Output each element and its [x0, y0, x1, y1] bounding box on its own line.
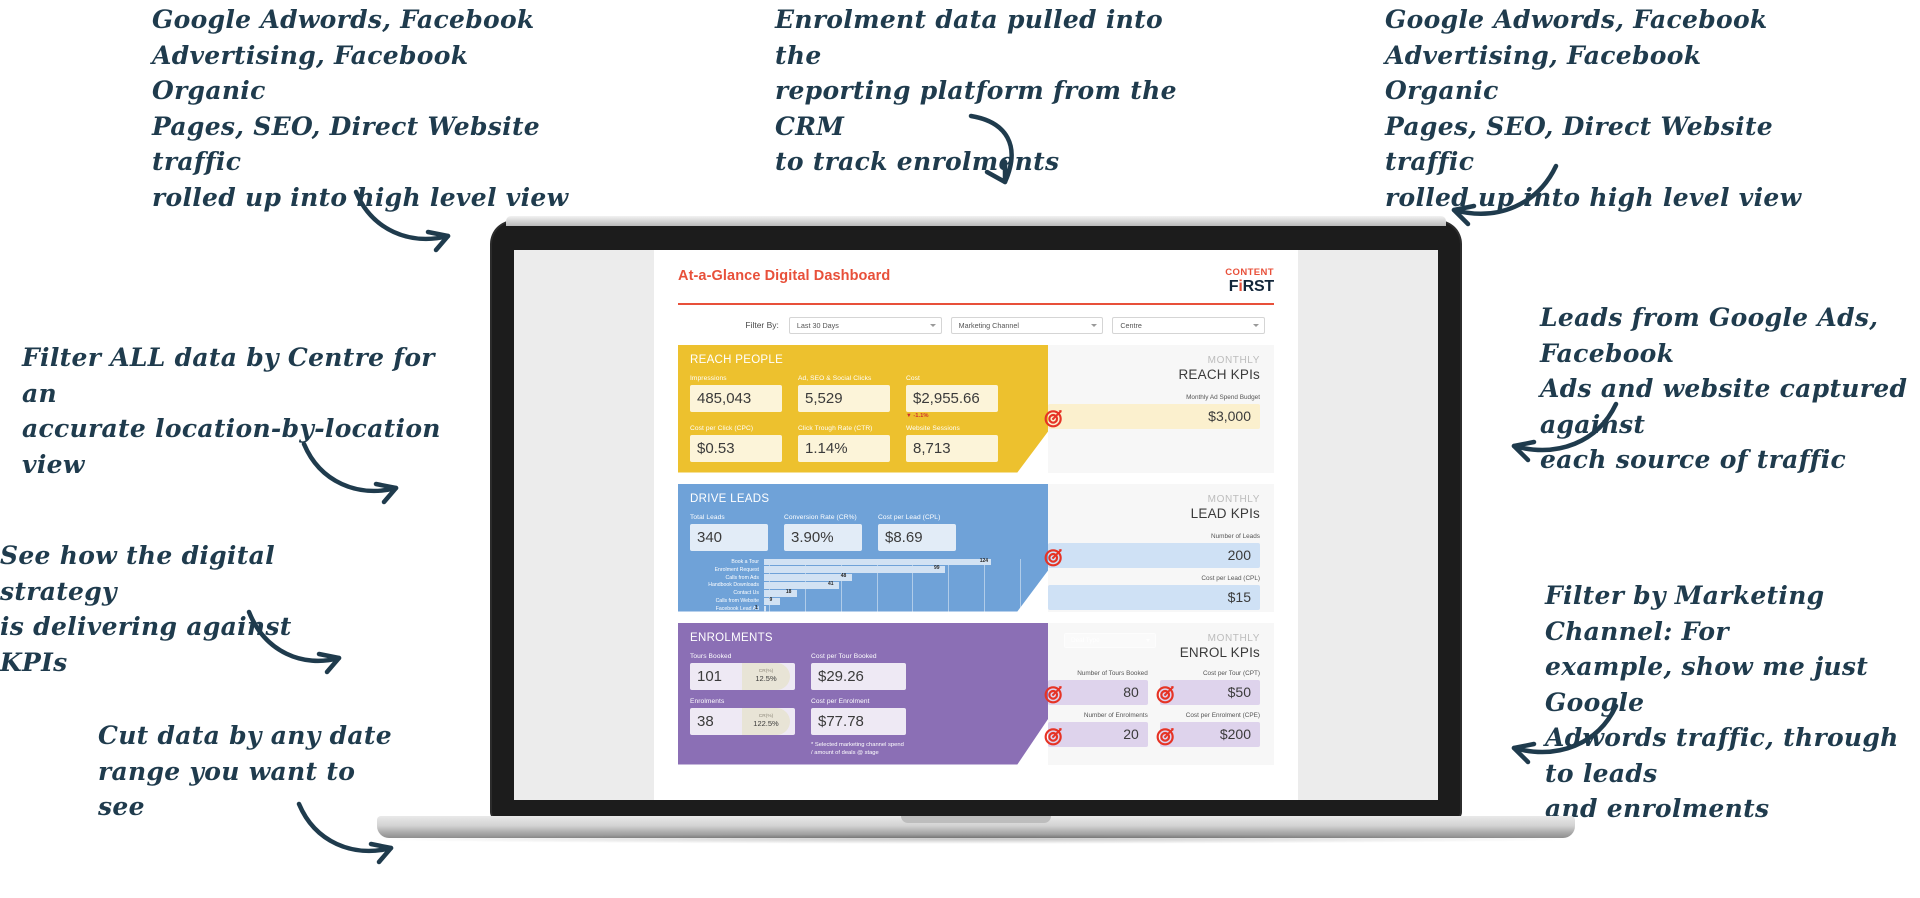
- metric-conversion-rate: Conversion Rate (CR%) 3.90%: [784, 514, 862, 551]
- tours-cr-badge: CR(%) 12.5%: [742, 663, 790, 690]
- laptop-lid: At-a-Glance Digital Dashboard CONTENT Fi…: [492, 222, 1460, 818]
- filter-bar: Filter By: Last 30 Days Marketing Channe…: [678, 317, 1274, 334]
- metric-value: $0.53: [690, 435, 782, 462]
- chart-bar: [764, 590, 797, 597]
- metric-cpc: Cost per Click (CPC) $0.53: [690, 425, 782, 462]
- chevron-down-icon: [1091, 324, 1097, 327]
- metric-caption: Total Leads: [690, 514, 768, 521]
- chart-bar-value: 1: [755, 605, 758, 611]
- chart-plot: 124: [764, 559, 1020, 566]
- metric-tours-booked: Tours Booked 101 CR(%) 12.5%: [690, 653, 795, 690]
- laptop-lid-gloss: [506, 216, 1446, 226]
- metric-ctr: Click Trough Rate (CTR) 1.14%: [798, 425, 890, 462]
- reach-kpi-field-0: Monthly Ad Spend Budget $3,000: [1048, 394, 1260, 429]
- chart-category-label: Facebook Lead Ad: [690, 606, 764, 611]
- arrow-crm-icon: [965, 112, 1045, 197]
- note-sources-left: Google Adwords, Facebook Advertising, Fa…: [152, 2, 572, 215]
- metric-impressions: Impressions 485,043: [690, 375, 782, 419]
- logo-line-1: CONTENT: [1225, 268, 1274, 278]
- metric-cost-per-tour-booked: Cost per Tour Booked $29.26: [811, 653, 906, 690]
- leads-kpi-value-1[interactable]: $15: [1048, 585, 1260, 610]
- leads-by-source-chart: Book a Tour124Enrolment Request99Calls f…: [690, 559, 1020, 612]
- metric-caption: Cost per Tour Booked: [811, 653, 906, 660]
- enrol-kpi-field-3: Cost per Enrolment (CPE) $200: [1160, 712, 1260, 747]
- chart-row: Book a Tour124: [690, 559, 1020, 566]
- chart-plot: 41: [764, 582, 1020, 589]
- leads-kpi-field-0: Number of Leads 200: [1048, 533, 1260, 568]
- chevron-down-icon: [1146, 639, 1150, 642]
- chart-category-label: Calls from Ads: [690, 575, 764, 581]
- metric-cost: Cost $2,955.66 ▼ -1.1%: [906, 375, 998, 419]
- chart-row: Contact Us18: [690, 590, 1020, 597]
- enrol-kpi-caption-0: Number of Tours Booked: [1048, 670, 1148, 677]
- chart-bar-value: 99: [934, 565, 940, 571]
- chart-plot: 99: [764, 566, 1020, 573]
- enrol-kpi-field-2: Number of Enrolments 20: [1048, 712, 1148, 747]
- target-icon: [1156, 684, 1176, 704]
- reach-kpi-sub: MONTHLY: [1048, 355, 1260, 366]
- chevron-down-icon: [930, 324, 936, 327]
- tours-booked-value: 101: [690, 663, 742, 690]
- laptop-mockup: At-a-Glance Digital Dashboard CONTENT Fi…: [492, 222, 1460, 838]
- enrol-footnote: * Selected marketing channel spend / amo…: [811, 741, 906, 758]
- arrow-channel-filter-icon: [1500, 700, 1620, 772]
- leads-kpi-main: LEAD KPIs: [1048, 506, 1260, 521]
- reach-people-section: MONTHLY REACH KPIs Monthly Ad Spend Budg…: [678, 345, 1274, 473]
- chart-category-label: Contact Us: [690, 590, 764, 596]
- marketing-channel-value: Marketing Channel: [959, 321, 1019, 330]
- reach-kpi-value-0[interactable]: $3,000: [1048, 404, 1260, 429]
- laptop-base-shadow: [362, 834, 1590, 844]
- header-rule: [678, 303, 1274, 305]
- chart-bar: [764, 574, 852, 581]
- metric-clicks: Ad, SEO & Social Clicks 5,529: [798, 375, 890, 419]
- metric-total-leads: Total Leads 340: [690, 514, 768, 551]
- enrol-kpi-caption-1: Cost per Tour (CPT): [1160, 670, 1260, 677]
- chart-category-label: Handbook Downloads: [690, 582, 764, 588]
- metric-caption: Conversion Rate (CR%): [784, 514, 862, 521]
- metric-value: 3.90%: [784, 524, 862, 551]
- date-range-value: Last 30 Days: [797, 321, 839, 330]
- enrolments-value: 38: [690, 708, 742, 735]
- metric-caption: Enrolments: [690, 698, 795, 705]
- arrow-centre-filter-icon: [300, 440, 410, 510]
- metric-caption: Cost per Enrolment: [811, 698, 906, 705]
- logo-f: F: [1229, 278, 1239, 295]
- reach-kpi-main: REACH KPIs: [1048, 367, 1260, 382]
- brand-logo: CONTENT FiRST: [1225, 268, 1274, 295]
- chart-bar: [764, 606, 766, 612]
- leads-kpi-value-0[interactable]: 200: [1048, 543, 1260, 568]
- chart-gridline: [1020, 559, 1021, 612]
- chart-bar-value: 48: [841, 573, 847, 579]
- target-icon: [1044, 547, 1064, 567]
- chart-plot: 9: [764, 598, 1020, 605]
- chart-bar-value: 18: [786, 589, 792, 595]
- arrow-sources-left-icon: [352, 188, 462, 258]
- metric-sessions: Website Sessions 8,713: [906, 425, 998, 462]
- reach-kpi-inner: MONTHLY REACH KPIs Monthly Ad Spend Budg…: [1048, 345, 1274, 473]
- metric-cost-per-lead: Cost per Lead (CPL) $8.69: [878, 514, 956, 551]
- marketing-channel-select[interactable]: Marketing Channel: [951, 317, 1104, 334]
- arrow-leads-capture-icon: [1500, 398, 1620, 470]
- metric-value: $2,955.66: [906, 385, 998, 412]
- metric-value: 8,713: [906, 435, 998, 462]
- filter-label: Filter By:: [724, 320, 789, 330]
- chart-row: Enrolment Request99: [690, 566, 1020, 573]
- chart-row: Calls from Ads48: [690, 574, 1020, 581]
- metric-cost-per-enrolment: Cost per Enrolment $77.78 * Selected mar…: [811, 698, 906, 758]
- chart-bar: [764, 566, 945, 573]
- metric-value: $8.69: [878, 524, 956, 551]
- enrol-kpi-field-0: Number of Tours Booked 80: [1048, 670, 1148, 705]
- tours-booked-pill: 101 CR(%) 12.5%: [690, 663, 795, 690]
- logo-rst: RST: [1243, 278, 1274, 295]
- chart-category-label: Calls from Website: [690, 598, 764, 604]
- target-icon: [1156, 726, 1176, 746]
- leads-kpi-sub: MONTHLY: [1048, 494, 1260, 505]
- enrolments-cr-badge: CR(%) 122.5%: [742, 708, 790, 735]
- metric-caption: Cost per Click (CPC): [690, 425, 782, 432]
- enrol-kpi-caption-2: Number of Enrolments: [1048, 712, 1148, 719]
- metric-caption: Click Trough Rate (CTR): [798, 425, 890, 432]
- enrol-kpi-caption-3: Cost per Enrolment (CPE): [1160, 712, 1260, 719]
- metric-value: $29.26: [811, 663, 906, 690]
- chart-category-label: Book a Tour: [690, 559, 764, 565]
- drive-leads-section: MONTHLY LEAD KPIs Number of Leads 200 Co…: [678, 484, 1274, 612]
- reach-kpi-caption-0: Monthly Ad Spend Budget: [1048, 394, 1260, 401]
- target-icon: [1044, 726, 1064, 746]
- deal-type-value: Deal Type: [1071, 637, 1100, 644]
- laptop-screen: At-a-Glance Digital Dashboard CONTENT Fi…: [514, 250, 1438, 800]
- leads-kpi-caption-0: Number of Leads: [1048, 533, 1260, 540]
- metric-caption: Cost: [906, 375, 998, 382]
- metric-caption: Tours Booked: [690, 653, 795, 660]
- chart-row: Facebook Lead Ad1: [690, 606, 1020, 612]
- metric-value: 340: [690, 524, 768, 551]
- chart-plot: 18: [764, 590, 1020, 597]
- chart-bar-value: 124: [980, 558, 988, 564]
- page-title: At-a-Glance Digital Dashboard: [678, 268, 890, 284]
- target-icon: [1044, 684, 1064, 704]
- metric-caption: Impressions: [690, 375, 782, 382]
- target-icon: [1044, 408, 1064, 428]
- chart-category-label: Enrolment Request: [690, 567, 764, 573]
- enrol-kpi-field-1: Cost per Tour (CPT) $50: [1160, 670, 1260, 705]
- centre-select[interactable]: Centre: [1112, 317, 1265, 334]
- centre-value: Centre: [1120, 321, 1142, 330]
- dashboard-header: At-a-Glance Digital Dashboard CONTENT Fi…: [678, 268, 1274, 295]
- metric-caption: Ad, SEO & Social Clicks: [798, 375, 890, 382]
- metric-value: 5,529: [798, 385, 890, 412]
- leads-kpi-field-1: Cost per Lead (CPL) $15: [1048, 575, 1260, 610]
- enrolments-section: Deal Type MONTHLY ENROL KPIs Number of T…: [678, 623, 1274, 765]
- chart-bar-value: 9: [769, 597, 772, 603]
- date-range-select[interactable]: Last 30 Days: [789, 317, 942, 334]
- logo-line-2: FiRST: [1225, 279, 1274, 295]
- metric-caption: Website Sessions: [906, 425, 998, 432]
- chart-bar: [764, 559, 991, 566]
- enrol-kpi-grid: Number of Tours Booked 80 Cost per Tour …: [1048, 670, 1260, 747]
- deal-type-select[interactable]: Deal Type: [1064, 633, 1156, 648]
- chart-rows: Book a Tour124Enrolment Request99Calls f…: [690, 559, 1020, 612]
- enrolments-pill: 38 CR(%) 122.5%: [690, 708, 795, 735]
- chart-row: Handbook Downloads41: [690, 582, 1020, 589]
- chart-plot: 1: [764, 606, 1020, 612]
- leads-kpi-caption-1: Cost per Lead (CPL): [1048, 575, 1260, 582]
- arrow-kpis-icon: [245, 608, 353, 680]
- metric-delta: ▼ -1.1%: [906, 413, 998, 419]
- dashboard-page: At-a-Glance Digital Dashboard CONTENT Fi…: [654, 250, 1298, 800]
- metric-enrolments: Enrolments 38 CR(%) 122.5%: [690, 698, 795, 758]
- leads-kpi-inner: MONTHLY LEAD KPIs Number of Leads 200 Co…: [1048, 484, 1274, 612]
- metric-value: $77.78: [811, 708, 906, 735]
- metric-value: 485,043: [690, 385, 782, 412]
- chart-plot: 48: [764, 574, 1020, 581]
- chart-bar-value: 41: [828, 581, 834, 587]
- metric-caption: Cost per Lead (CPL): [878, 514, 956, 521]
- chart-row: Calls from Website9: [690, 598, 1020, 605]
- metric-value: 1.14%: [798, 435, 890, 462]
- chevron-down-icon: [1253, 324, 1259, 327]
- cr-value: 122.5%: [753, 719, 778, 728]
- cr-value: 12.5%: [755, 674, 776, 683]
